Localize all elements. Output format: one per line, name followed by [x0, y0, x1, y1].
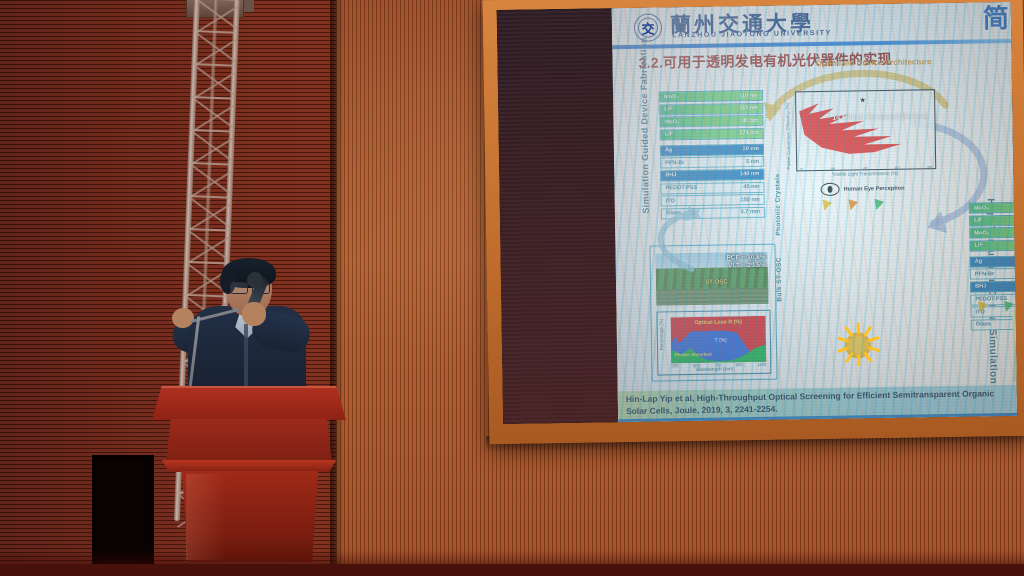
- device-layer-name: BHJ: [975, 284, 986, 290]
- device-layer-name: MoO₃: [664, 119, 679, 125]
- podium-lip: [158, 460, 340, 472]
- device-layer: Ag10:5:40 nm: [970, 255, 1018, 268]
- axis-tick-label: 80: [927, 165, 932, 170]
- slide-header-right-text: 简: [983, 2, 1010, 35]
- device-layer-name: LiF: [664, 106, 672, 112]
- projection-screen-frame: 交 蘭州交通大學 LANZHOU JIAOTONG UNIVERSITY 简 3…: [483, 0, 1024, 444]
- device-layer-thickness: 140 nm: [740, 171, 759, 177]
- optical-loss-chart: Percentage (%) Optical Loss R (%) T (%) …: [656, 310, 771, 376]
- speaker-jacket-zip: [244, 324, 248, 394]
- device-layer: PFN-Br5 nm: [970, 268, 1017, 281]
- device-layer-name: Ag: [975, 259, 983, 265]
- device-layer-name: PFN-Br: [975, 271, 994, 277]
- podium-highlight: [186, 474, 226, 560]
- down-arrow-icon: [846, 199, 858, 211]
- device-layer-thickness: 45 nm: [743, 184, 759, 190]
- simulated-devices-label: 14 Million Simulated Devices: [832, 112, 928, 124]
- axis-tick-label: 0: [800, 167, 803, 172]
- device-layer-name: MoO₃: [664, 94, 679, 100]
- device-layer-name: BHJ: [665, 173, 676, 179]
- human-eye-perception-row: Human Eye Perception: [820, 182, 904, 196]
- device-layer: LiF0:10:220 nm: [969, 214, 1017, 227]
- device-layer-thickness: 150 nm: [740, 197, 759, 203]
- device-layer: PEDOT:PSS45 nm: [660, 181, 764, 194]
- device-layer: LiF0:10:200 nm: [969, 239, 1017, 252]
- down-arrow-icon: [975, 301, 987, 313]
- sun-ray: [867, 336, 879, 343]
- device-layer: MoO₃40 nm: [659, 115, 763, 128]
- device-layer-name: LiF: [974, 243, 982, 249]
- left-column-vertical-label: Simulation Guided Device Fabrication: [639, 94, 651, 214]
- device-layer: PFN-Br5 nm: [660, 156, 764, 169]
- device-layer: BHJ140 nm: [660, 169, 764, 182]
- vlt-value: VLT = 29.5%: [726, 262, 765, 271]
- device-layer-thickness: 115 nm: [739, 105, 758, 111]
- device-layer: LiF174 nm: [660, 128, 764, 141]
- device-layer-thickness: 0.7 mm: [741, 209, 760, 215]
- device-layer: Ag20 nm: [660, 144, 764, 157]
- photo-device-caption: ST-OSC: [705, 279, 727, 285]
- device-layer-thickness: 5 nm: [746, 159, 759, 165]
- axis-tick-label: 20: [830, 167, 835, 172]
- university-name-en: LANZHOU JIAOTONG UNIVERSITY: [672, 30, 832, 40]
- photo-metrics: PCE = 10.8% VLT = 29.5%: [726, 254, 765, 271]
- bulk-stosc-label: Bulk ST-OSC: [775, 238, 783, 302]
- optical-loss-ylabel: Percentage (%): [659, 318, 665, 350]
- device-layer: MoO₃0:10:220 nm: [969, 201, 1017, 214]
- device-layer: MoO₃110 nm: [659, 90, 763, 103]
- speaker-figure: [174, 262, 314, 402]
- absorbed-series-label: Photon Absorbed: [675, 352, 712, 358]
- device-layer-name: MoO₃: [974, 205, 989, 211]
- eye-icon: [820, 183, 839, 196]
- thermal-background: [1012, 309, 1017, 382]
- device-layer-name: LiF: [974, 218, 982, 224]
- scatter-point-cloud: [799, 95, 924, 162]
- simulated-devices-scatter: ★ 14 Million Simulated Devices: [795, 89, 936, 171]
- screen-letterbox-band: [497, 8, 618, 424]
- human-eye-label: Human Eye Perception: [844, 185, 905, 192]
- device-layer: LiF115 nm: [659, 102, 763, 115]
- axis-tick-label: 60: [895, 166, 900, 171]
- optical-loss-plot-area: Optical Loss R (%) T (%) Photon Absorbed: [671, 316, 767, 363]
- device-layer-name: ITO: [666, 198, 675, 204]
- sun-ray: [863, 326, 872, 338]
- device-layer-name: PEDOT:PSS: [665, 185, 697, 191]
- feedback-arrow-left: [637, 205, 708, 276]
- down-arrow-icon: [820, 200, 832, 212]
- device-layer-name: PFN-Br: [665, 160, 684, 166]
- photonic-crystals-label: Photonic Crystals: [775, 192, 783, 236]
- device-layer: BHJ50:10:150 nm: [970, 280, 1017, 293]
- projection-screen-surface: 交 蘭州交通大學 LANZHOU JIAOTONG UNIVERSITY 简 3…: [497, 2, 1017, 424]
- optimum-star-marker: ★: [860, 96, 866, 104]
- light-arrows-bottom: [976, 302, 1017, 313]
- device-layer-name: LiF: [665, 132, 673, 138]
- sun-ray: [857, 322, 860, 334]
- photo-water: [656, 288, 768, 305]
- device-layer-name: MoO₃: [974, 230, 989, 236]
- device-layer-thickness: 110 nm: [739, 92, 758, 98]
- down-arrow-icon: [872, 199, 884, 211]
- device-layer: MoO₃0:10:200 nm: [969, 226, 1017, 239]
- device-layer-name: Glass: [976, 322, 991, 328]
- logo-glyph: 交: [641, 18, 654, 37]
- presentation-slide: 交 蘭州交通大學 LANZHOU JIAOTONG UNIVERSITY 简 3…: [612, 2, 1017, 422]
- podium: [152, 386, 346, 576]
- axis-tick-label: 40: [863, 166, 868, 171]
- sun-ray: [857, 354, 860, 366]
- speaker-right-hand: [242, 302, 266, 326]
- device-layer-thickness: 40 nm: [742, 118, 758, 124]
- device-layer-name: Ag: [665, 148, 673, 154]
- optical-loss-xlabel: Wavelength (nm): [658, 366, 770, 374]
- podium-mid: [166, 419, 332, 463]
- device-layer-thickness: 174 nm: [739, 130, 758, 136]
- transmittance-series-label: T (%): [715, 338, 727, 344]
- device-layer: Glass0.7 mm: [971, 318, 1018, 331]
- fabricated-device-stack: MoO₃110 nmLiF115 nmMoO₃40 nmLiF174 nmAg2…: [659, 90, 765, 221]
- light-arrows-top: [821, 200, 883, 211]
- optical-loss-series-label: Optical Loss R (%): [694, 319, 742, 326]
- screenshot-stage: 交 蘭州交通大學 LANZHOU JIAOTONG UNIVERSITY 简 3…: [0, 0, 1024, 576]
- thermal-camera-image: Object 27.1 °C FLIR: [1012, 308, 1017, 382]
- device-layer-thickness: 20 nm: [743, 146, 759, 152]
- podium-top: [152, 386, 346, 420]
- glasses-lens-left: [230, 282, 248, 294]
